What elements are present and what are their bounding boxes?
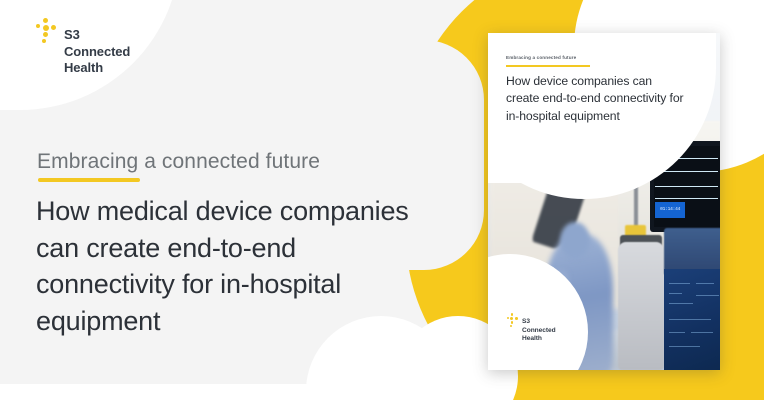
brand-name-line-2: Connected bbox=[64, 44, 130, 61]
monitor-timestamp: 01:14:44 bbox=[655, 202, 685, 219]
promo-eyebrow: Embracing a connected future bbox=[37, 150, 320, 174]
s3-dots-logo-mark bbox=[33, 18, 59, 48]
photo-secondary-screen bbox=[664, 269, 720, 370]
cover-accent-rule bbox=[506, 65, 590, 67]
promo-headline: How medical device companies can create … bbox=[36, 193, 436, 340]
document-cover[interactable]: 01:14:44 Embracing a conn bbox=[488, 33, 720, 370]
brand-name-line-1: S3 bbox=[64, 27, 130, 44]
cover-eyebrow: Embracing a connected future bbox=[506, 55, 576, 60]
cover-brand-name-line-1: S3 bbox=[522, 318, 556, 327]
cover-footer-logo-wordmark: S3 Connected Health bbox=[522, 318, 556, 344]
s3-dots-logo-mark bbox=[505, 313, 519, 329]
promo-banner: S3 Connected Health Embracing a connecte… bbox=[0, 0, 764, 400]
cover-brand-name-line-3: Health bbox=[522, 335, 556, 344]
white-strip-bottom bbox=[0, 384, 470, 400]
brand-name-line-3: Health bbox=[64, 60, 130, 77]
cover-brand-name-line-2: Connected bbox=[522, 327, 556, 336]
cover-headline: How device companies can create end-to-e… bbox=[506, 73, 686, 125]
promo-accent-rule bbox=[38, 178, 140, 182]
cover-footer-logo: S3 Connected Health bbox=[505, 313, 556, 344]
brand-logo[interactable]: S3 Connected Health bbox=[33, 18, 130, 77]
brand-logo-wordmark: S3 Connected Health bbox=[64, 27, 130, 77]
